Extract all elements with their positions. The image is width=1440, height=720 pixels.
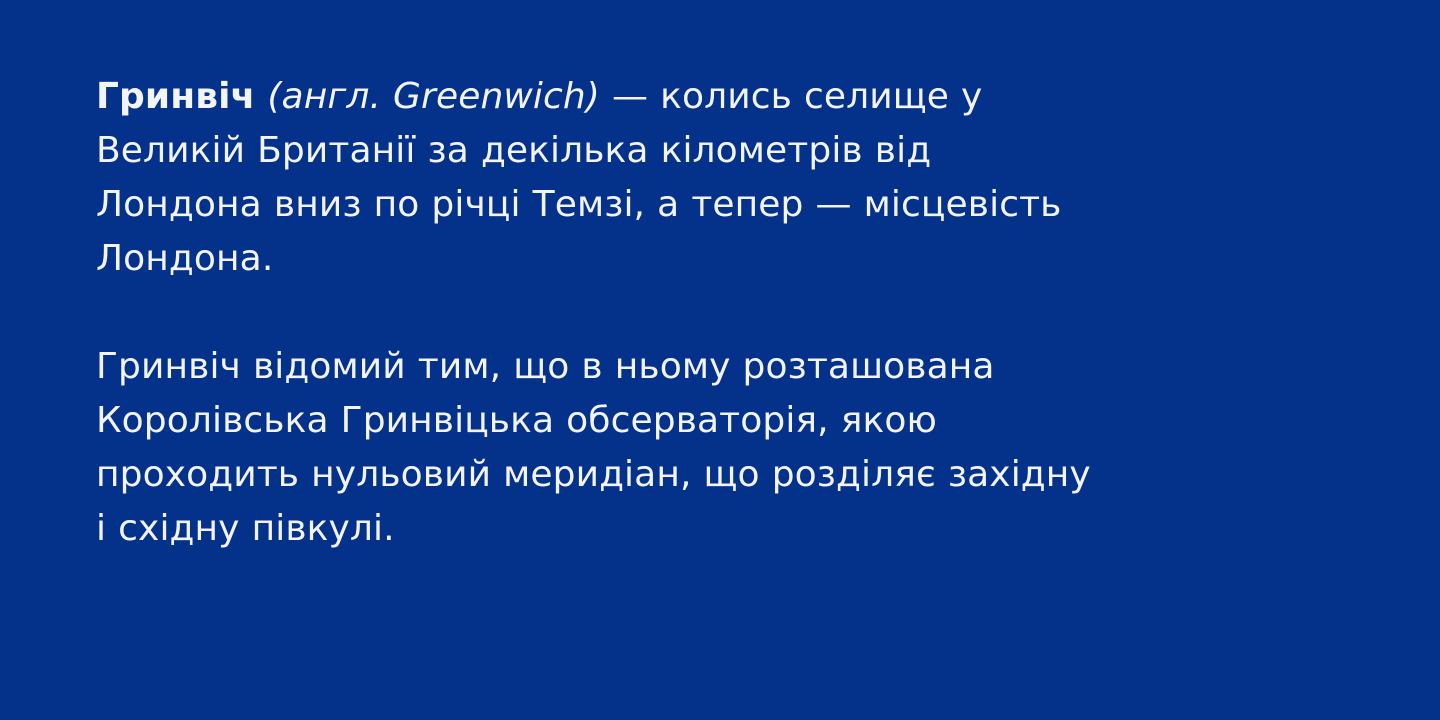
paragraph-definition: Гринвіч (англ. Greenwich) — колись селищ… bbox=[96, 70, 1106, 286]
space-separator-1 bbox=[255, 76, 267, 117]
paragraph-observatory: Гринвіч відомий тим, що в ньому розташов… bbox=[96, 340, 1106, 556]
observatory-body-text: Гринвіч відомий тим, що в ньому розташов… bbox=[96, 346, 1103, 549]
text-content-block: Гринвіч (англ. Greenwich) — колись селищ… bbox=[96, 70, 1106, 556]
slide-canvas: Гринвіч (англ. Greenwich) — колись селищ… bbox=[0, 0, 1440, 720]
term-name-bold: Гринвіч bbox=[96, 76, 255, 117]
term-translation-italic: (англ. Greenwich) bbox=[267, 76, 600, 117]
